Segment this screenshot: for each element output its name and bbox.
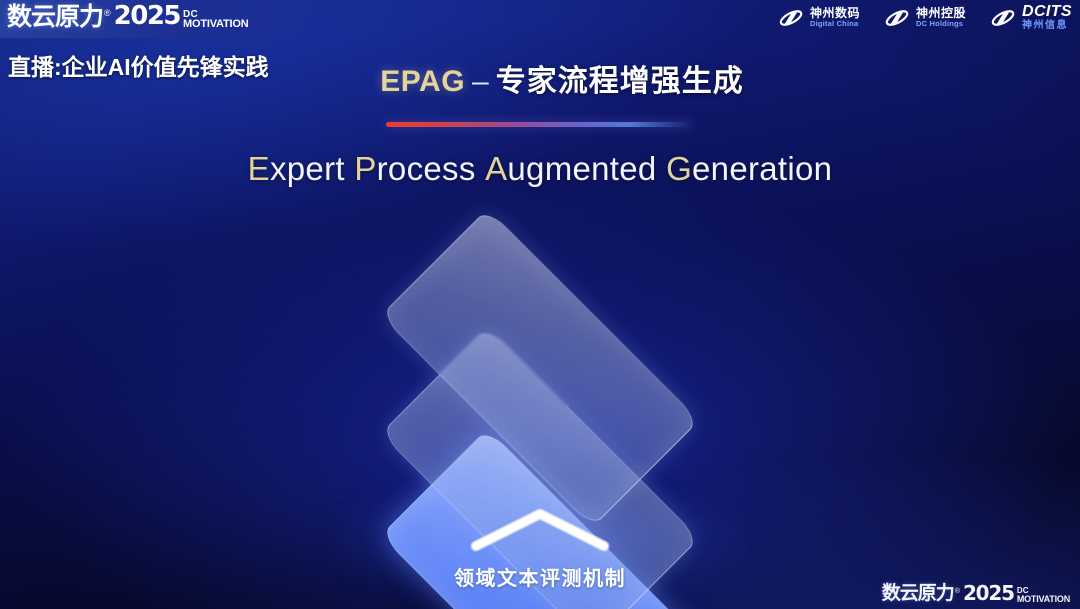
partner-logo-dc-holdings-text: 神州控股 DC Holdings <box>916 7 966 27</box>
swoosh-icon <box>778 6 804 30</box>
subtitle-cap-1: P <box>354 150 376 187</box>
page-title: EPAG–专家流程增强生成 <box>0 56 1080 100</box>
watermark-dc: DC MOTIVATION <box>1017 587 1070 603</box>
subtitle-rest-1: rocess <box>377 150 476 187</box>
partner-en-1: DC Holdings <box>916 20 966 28</box>
brand-logo-year: 2025 <box>114 3 180 29</box>
partner-logo-digital-china-text: 神州数码 Digital China <box>810 7 860 27</box>
brand-logo-registered-mark: ® <box>104 8 111 18</box>
brand-logo-cn: 数云原力 <box>7 4 103 29</box>
partner-en-2: 神州信息 <box>1022 21 1072 32</box>
partner-logo-dc-holdings: 神州控股 DC Holdings <box>884 6 966 30</box>
swoosh-icon <box>990 6 1016 30</box>
layered-architecture-diagram: 领域文本评测机制 Dynamic MOE 长文本记忆 三类语义建模模块 <box>300 232 780 582</box>
partner-logo-group: 神州数码 Digital China 神州控股 DC Holdings DCIT… <box>778 4 1072 31</box>
brand-logo: 数云原力 ® 2025 DC MOTIVATION <box>7 3 248 29</box>
partner-cn-2: DCITS <box>1022 4 1072 21</box>
title-chinese: 专家流程增强生成 <box>496 65 744 98</box>
chevron-up-icon <box>466 504 614 556</box>
partner-en-0: Digital China <box>810 20 860 28</box>
footer-watermark: 数云原力 ® 2025 DC MOTIVATION <box>882 583 1070 603</box>
subtitle-cap-2: A <box>485 150 507 187</box>
watermark-dc-line2: MOTIVATION <box>1017 595 1070 603</box>
slide-canvas: 数云原力 ® 2025 DC MOTIVATION 直播:企业AI价值先锋实践 … <box>0 0 1080 609</box>
watermark-registered-mark: ® <box>955 588 960 595</box>
subtitle-cap-3: G <box>666 150 692 187</box>
subtitle-rest-2: ugmented <box>507 150 656 187</box>
gradient-divider <box>386 122 692 127</box>
subtitle-cap-0: E <box>248 150 270 187</box>
page-subtitle: Expert Process Augmented Generation <box>0 150 1080 188</box>
partner-logo-dcits: DCITS 神州信息 <box>990 4 1072 31</box>
title-acronym: EPAG <box>380 65 465 98</box>
subtitle-rest-0: xpert <box>270 150 345 187</box>
watermark-year: 2025 <box>963 583 1014 603</box>
title-dash: – <box>472 65 489 98</box>
partner-logo-dcits-text: DCITS 神州信息 <box>1022 4 1072 31</box>
brand-logo-dc: DC MOTIVATION <box>183 10 248 29</box>
partner-logo-digital-china: 神州数码 Digital China <box>778 6 860 30</box>
diagram-layer-top-label: 领域文本评测机制 <box>454 562 626 591</box>
brand-logo-dc-line2: MOTIVATION <box>183 19 248 29</box>
watermark-cn: 数云原力 <box>882 584 954 603</box>
subtitle-rest-3: eneration <box>692 150 832 187</box>
swoosh-icon <box>884 6 910 30</box>
